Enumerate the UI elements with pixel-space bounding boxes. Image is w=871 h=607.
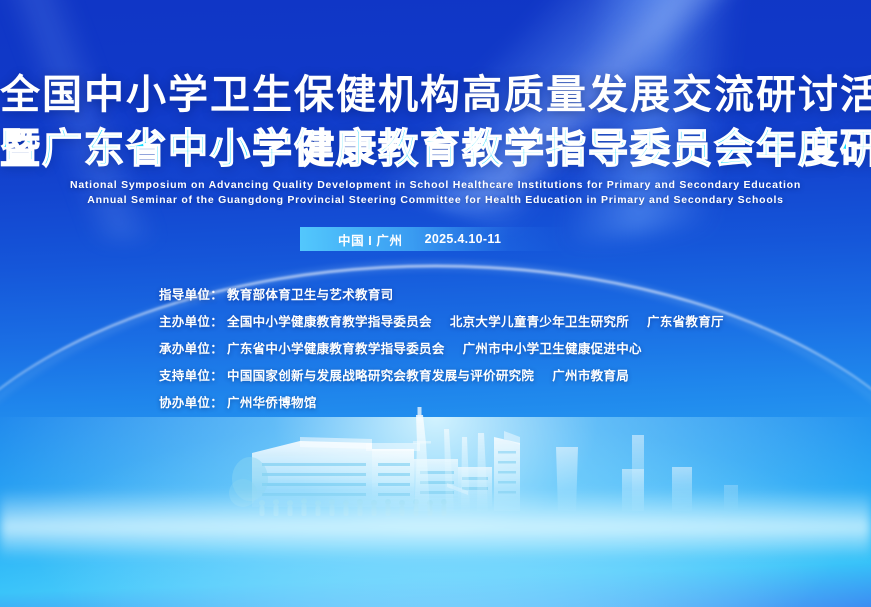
organizer-value: 广东省教育厅 xyxy=(647,315,724,330)
organizer-values: 教育部体育卫生与艺术教育司 xyxy=(227,288,393,303)
organizer-label: 承办单位： xyxy=(159,342,223,357)
organizer-value: 全国中小学健康教育教学指导委员会 xyxy=(227,315,432,330)
organizer-value: 中国国家创新与发展战略研究会教育发展与评价研究院 xyxy=(227,369,534,384)
conference-poster: 全国中小学卫生保健机构高质量发展交流研讨活动 暨广东省中小学健康教育教学指导委员… xyxy=(0,0,871,607)
ground-haze xyxy=(0,489,871,559)
event-date: 2025.4.10-11 xyxy=(425,232,502,246)
english-title-line-2: Annual Seminar of the Guangdong Provinci… xyxy=(0,193,871,207)
organizer-label: 主办单位： xyxy=(159,315,223,330)
organizer-row: 主办单位：全国中小学健康教育教学指导委员会北京大学儿童青少年卫生研究所广东省教育… xyxy=(159,315,724,330)
organizer-values: 广东省中小学健康教育教学指导委员会广州市中小学卫生健康促进中心 xyxy=(227,342,642,357)
organizer-values: 全国中小学健康教育教学指导委员会北京大学儿童青少年卫生研究所广东省教育厅 xyxy=(227,315,724,330)
organizer-row: 指导单位：教育部体育卫生与艺术教育司 xyxy=(159,288,724,303)
organizer-row: 承办单位：广东省中小学健康教育教学指导委员会广州市中小学卫生健康促进中心 xyxy=(159,342,724,357)
event-location-date-bar: 中国 I 广州 2025.4.10-11 xyxy=(300,227,568,251)
organizer-values: 中国国家创新与发展战略研究会教育发展与评价研究院广州市教育局 xyxy=(227,369,629,384)
organizer-value: 广州市教育局 xyxy=(552,369,629,384)
organizer-row: 支持单位：中国国家创新与发展战略研究会教育发展与评价研究院广州市教育局 xyxy=(159,369,724,384)
guangzhou-skyline-illustration xyxy=(0,407,871,547)
light-streak-c xyxy=(411,0,752,244)
organizer-value: 北京大学儿童青少年卫生研究所 xyxy=(450,315,629,330)
page-title: 全国中小学卫生保健机构高质量发展交流研讨活动 xyxy=(0,73,871,117)
organizer-value: 广东省中小学健康教育教学指导委员会 xyxy=(227,342,445,357)
organizer-list: 指导单位：教育部体育卫生与艺术教育司主办单位：全国中小学健康教育教学指导委员会北… xyxy=(159,288,724,423)
page-subtitle-cn: 暨广东省中小学健康教育教学指导委员会年度研讨活动 xyxy=(0,127,871,171)
organizer-label: 指导单位： xyxy=(159,288,223,303)
organizer-row: 协办单位：广州华侨博物馆 xyxy=(159,396,724,411)
organizer-label: 支持单位： xyxy=(159,369,223,384)
organizer-value: 广州市中小学卫生健康促进中心 xyxy=(463,342,642,357)
organizer-values: 广州华侨博物馆 xyxy=(227,396,317,411)
organizer-label: 协办单位： xyxy=(159,396,223,411)
event-location: 中国 I 广州 xyxy=(338,230,403,249)
organizer-value: 教育部体育卫生与艺术教育司 xyxy=(227,288,393,303)
horizon-glow xyxy=(0,417,871,607)
organizer-value: 广州华侨博物馆 xyxy=(227,396,317,411)
english-title-line-1: National Symposium on Advancing Quality … xyxy=(0,178,871,192)
